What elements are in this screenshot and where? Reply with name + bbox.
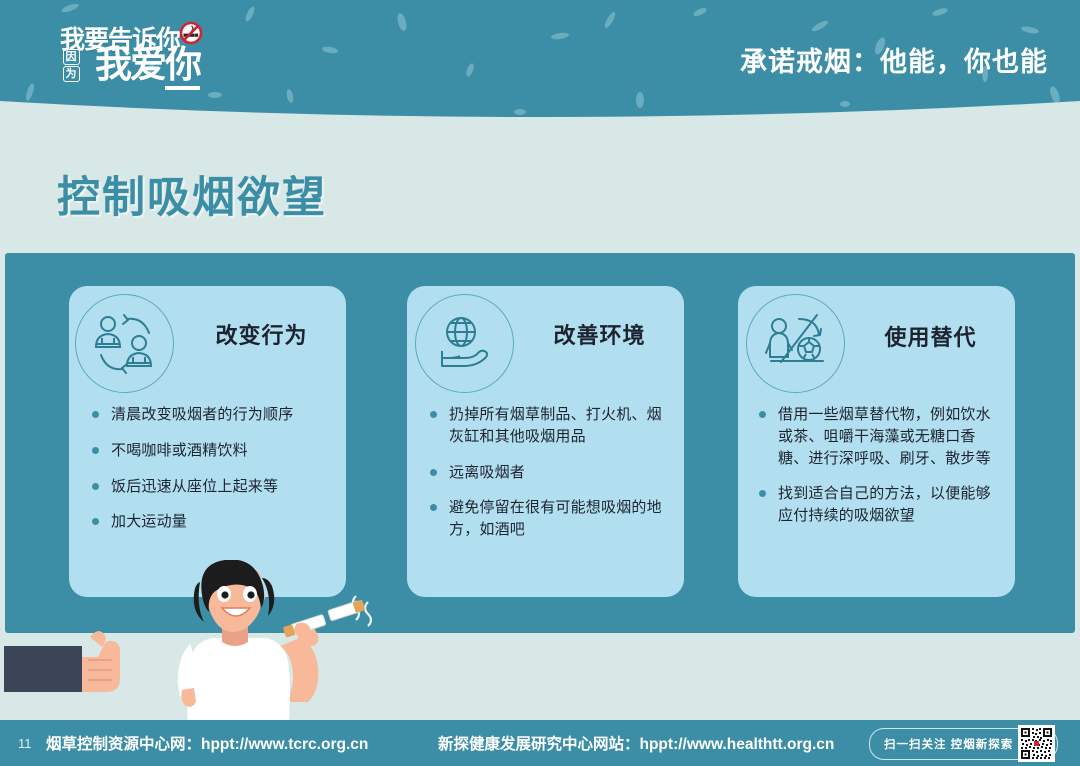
footer-bar: 11 烟草控制资源中心网：hppt://www.tcrc.org.cn 新探健康… xyxy=(0,720,1080,766)
page-title: 控制吸烟欲望 xyxy=(57,163,327,225)
slide-root: 我要告诉你 因 为 我爱你 承诺戒烟：他能，你也能 控制吸烟欲望 xyxy=(0,0,1080,766)
list-item: 远离吸烟者 xyxy=(429,462,668,484)
card-title: 改善环境 xyxy=(515,318,684,350)
page-number: 11 xyxy=(18,736,32,751)
badge-char-bottom: 为 xyxy=(63,66,80,82)
footer-link-left[interactable]: 烟草控制资源中心网：hppt://www.tcrc.org.cn xyxy=(46,732,368,754)
card-use-substitutes[interactable]: 使用替代 借用一些烟草替代物，例如饮水或茶、咀嚼干海藻或无糖口香糖、进行深呼吸、… xyxy=(738,286,1015,597)
right-arm-and-cigarette xyxy=(280,596,371,702)
card-bullet-list: 清晨改变吸烟者的行为顺序 不喝咖啡或酒精饮料 饭后迅速从座位上起来等 加大运动量 xyxy=(69,396,346,533)
banner-title: 承诺戒烟：他能，你也能 xyxy=(740,40,1048,79)
list-item: 找到适合自己的方法，以便能够应付持续的吸烟欲望 xyxy=(758,483,1005,527)
list-item: 不喝咖啡或酒精饮料 xyxy=(91,440,330,462)
list-item: 借用一些烟草替代物，例如饮水或茶、咀嚼干海藻或无糖口香糖、进行深呼吸、刷牙、散步… xyxy=(758,404,1005,469)
sports-replacement-icon xyxy=(746,294,845,393)
card-improve-environment[interactable]: 改善环境 扔掉所有烟草制品、打火机、烟灰缸和其他吸烟用品 远离吸烟者 避免停留在… xyxy=(407,286,684,597)
top-banner: 我要告诉你 因 为 我爱你 承诺戒烟：他能，你也能 xyxy=(0,0,1080,130)
logo-line-2-text: 我爱 xyxy=(95,43,165,86)
list-item: 饭后迅速从座位上起来等 xyxy=(91,476,330,498)
footer-link-right[interactable]: 新探健康发展研究中心网站：hppt://www.healthtt.org.cn xyxy=(438,732,834,754)
qr-code-icon[interactable] xyxy=(1018,725,1055,762)
people-exchange-icon xyxy=(75,294,174,393)
logo-yinwei-badge: 因 为 xyxy=(54,48,88,82)
card-bullet-list: 扔掉所有烟草制品、打火机、烟灰缸和其他吸烟用品 远离吸烟者 避免停留在很有可能想… xyxy=(407,396,684,541)
card-bullet-list: 借用一些烟草替代物，例如饮水或茶、咀嚼干海藻或无糖口香糖、进行深呼吸、刷牙、散步… xyxy=(738,396,1015,527)
list-item: 清晨改变吸烟者的行为顺序 xyxy=(91,404,330,426)
person-body xyxy=(178,620,290,735)
card-header: 改善环境 xyxy=(407,286,684,396)
card-change-behavior[interactable]: 改变行为 清晨改变吸烟者的行为顺序 不喝咖啡或酒精饮料 饭后迅速从座位上起来等 … xyxy=(69,286,346,597)
scan-label: 扫一扫关注 控烟新探索 xyxy=(884,736,1013,752)
logo-line-2: 我爱你 xyxy=(95,46,200,83)
thumbs-up-icon xyxy=(4,631,120,692)
card-header: 改变行为 xyxy=(69,286,346,396)
list-item: 扔掉所有烟草制品、打火机、烟灰缸和其他吸烟用品 xyxy=(429,404,668,448)
globe-on-hand-icon xyxy=(415,294,514,393)
man-breaking-cigarette-illustration xyxy=(0,560,420,735)
no-smoking-icon xyxy=(179,21,203,45)
card-header: 使用替代 xyxy=(738,286,1015,396)
person-head xyxy=(194,560,275,632)
card-title: 使用替代 xyxy=(846,320,1015,352)
badge-char-top: 因 xyxy=(63,49,80,65)
campaign-logo: 我要告诉你 因 为 我爱你 xyxy=(52,20,222,96)
list-item: 加大运动量 xyxy=(91,511,330,533)
logo-line-2-underlined: 你 xyxy=(165,43,200,90)
card-title: 改变行为 xyxy=(177,318,346,350)
list-item: 避免停留在很有可能想吸烟的地方，如酒吧 xyxy=(429,497,668,541)
